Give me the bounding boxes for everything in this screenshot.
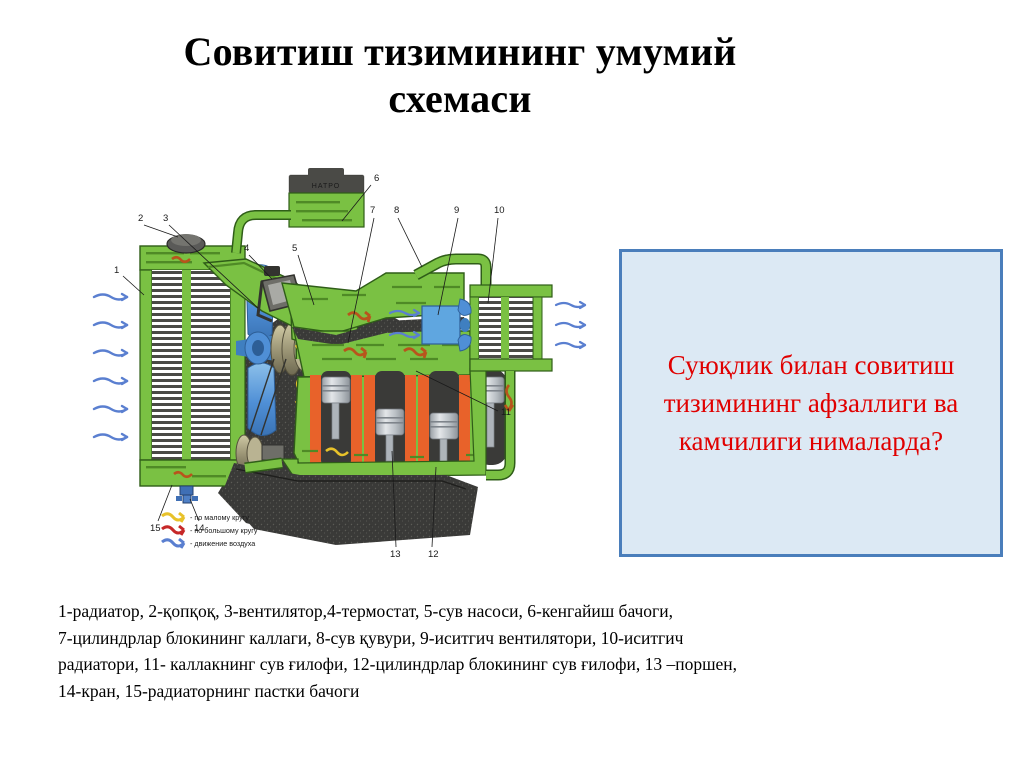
diagram-legend: - по малому кругу - по большому кругу - … (162, 513, 258, 548)
legend-label-large-circuit: - по большому кругу (190, 526, 258, 535)
figure-caption: 1-радиатор, 2-қопқоқ, 3-вентилятор,4-тер… (58, 598, 958, 704)
legend-label-air-flow: - движение воздуха (190, 539, 255, 548)
figure-caption-line-4: 14-кран, 15-радиаторнинг пастки бачоги (58, 678, 958, 705)
figure-caption-line-1: 1-радиатор, 2-қопқоқ, 3-вентилятор,4-тер… (58, 598, 958, 625)
drain-tap (176, 486, 198, 503)
callout-number-4: 4 (244, 243, 249, 254)
callout-number-5: 5 (292, 243, 297, 254)
callout-number-3: 3 (163, 213, 168, 224)
radiator-cap (167, 234, 205, 253)
question-callout-box: Суюқлик билан совитиш тизимининг афзалли… (619, 249, 1003, 557)
callout-number-2: 2 (138, 213, 143, 224)
figure-caption-line-2: 7-цилиндрлар блокининг каллаги, 8-сув қу… (58, 625, 958, 652)
figure-caption-line-3: радиатори, 11- каллакнинг сув ғилофи, 12… (58, 651, 958, 678)
callout-number-10: 10 (494, 205, 505, 216)
callout-number-1: 1 (114, 265, 119, 276)
callout-number-8: 8 (394, 205, 399, 216)
slide-root: Совитиш тизимининг умумий схемаси (0, 0, 1024, 767)
page-title-line-2: схемаси (110, 75, 810, 122)
callout-number-7: 7 (370, 205, 375, 216)
page-title: Совитиш тизимининг умумий схемаси (110, 28, 810, 122)
page-title-line-1: Совитиш тизимининг умумий (110, 28, 810, 75)
callout-number-12: 12 (428, 549, 439, 560)
callout-number-9: 9 (454, 205, 459, 216)
expansion-tank-cap-text: НАТРО (312, 183, 340, 190)
callout-number-15: 15 (150, 523, 161, 534)
oil-sump (222, 463, 478, 545)
air-flow-arrows (94, 294, 127, 440)
expansion-tank: НАТРО (289, 168, 364, 227)
lower-return-hose (245, 463, 282, 468)
question-callout-text: Суюқлик билан совитиш тизимининг афзалли… (622, 346, 1000, 461)
cooling-system-diagram: НАТРО (86, 163, 606, 563)
callout-number-13: 13 (390, 549, 401, 560)
callout-number-11: 11 (501, 407, 511, 418)
legend-label-small-circuit: - по малому кругу (190, 513, 249, 522)
callout-number-6: 6 (374, 173, 379, 184)
